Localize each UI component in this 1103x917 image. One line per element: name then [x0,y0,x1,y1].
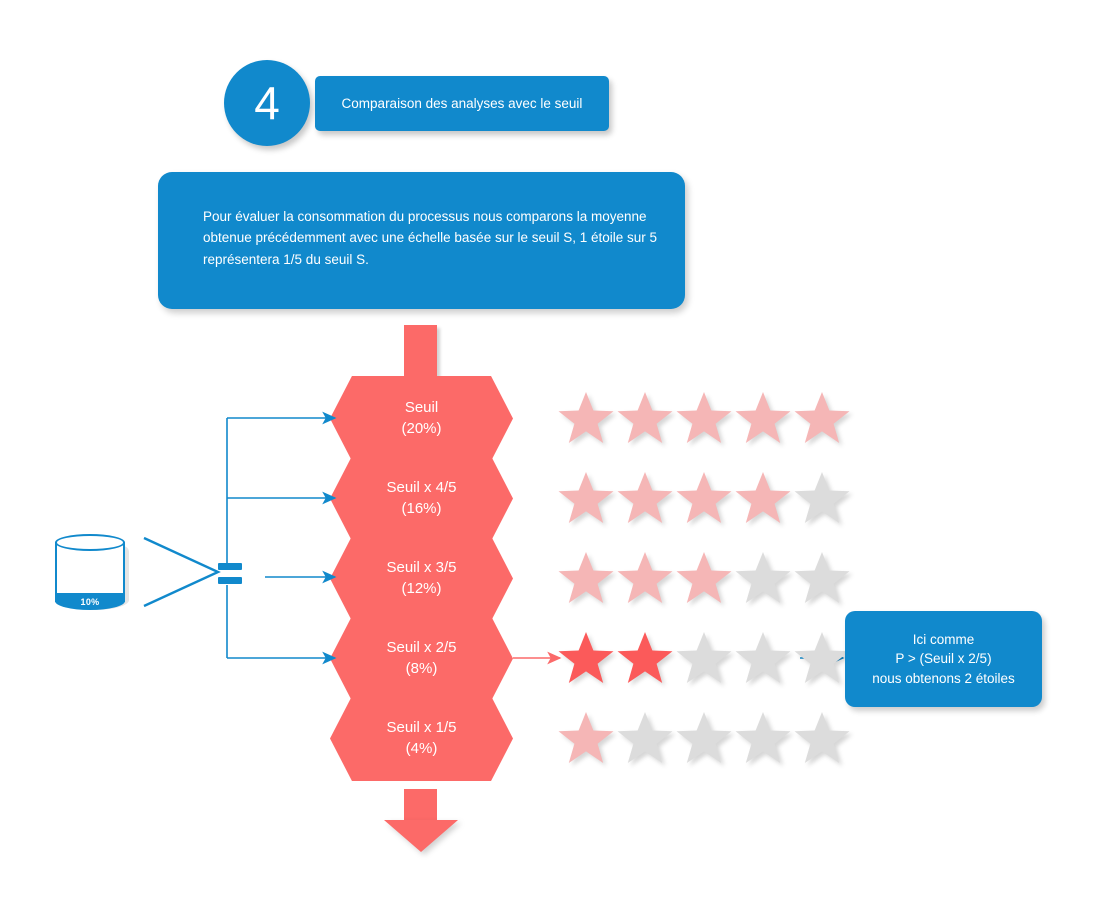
star-empty-icon [675,710,733,766]
star-empty-icon [793,710,851,766]
step-number-badge: 4 [224,60,310,146]
star-filled-icon [616,630,674,686]
step-number-label: 4 [254,80,280,126]
star-empty-icon [734,630,792,686]
star-row-1 [0,390,1103,448]
connector-lines [0,0,1103,917]
cylinder-top-ellipse [55,534,125,551]
star-filled-icon [616,550,674,606]
callout-line-2: P > (Seuil x 2/5) [895,651,991,666]
star-filled-icon [557,550,615,606]
description-box: Pour évaluer la consommation du processu… [158,172,685,309]
star-row-5 [0,710,1103,768]
step-title-box: Comparaison des analyses avec le seuil [315,76,609,131]
star-empty-icon [616,710,674,766]
callout-text: Ici comme P > (Seuil x 2/5) nous obtenon… [872,630,1015,689]
callout-line-3: nous obtenons 2 étoiles [872,671,1015,686]
step-title-label: Comparaison des analyses avec le seuil [342,95,583,113]
star-filled-icon [675,550,733,606]
star-empty-icon [793,630,851,686]
star-empty-icon [793,470,851,526]
star-filled-icon [616,470,674,526]
star-filled-icon [557,470,615,526]
star-empty-icon [675,630,733,686]
star-empty-icon [734,710,792,766]
diagram-canvas: 4 Comparaison des analyses avec le seuil… [0,0,1103,917]
star-filled-icon [675,390,733,446]
callout-line-1: Ici comme [913,632,975,647]
star-filled-icon [616,390,674,446]
star-row-3 [0,550,1103,608]
star-filled-icon [557,710,615,766]
star-filled-icon [734,390,792,446]
star-filled-icon [793,390,851,446]
star-filled-icon [734,470,792,526]
callout-box: Ici comme P > (Seuil x 2/5) nous obtenon… [845,611,1042,707]
star-filled-icon [675,470,733,526]
star-row-2 [0,470,1103,528]
funnel-bottom-arrow-head [384,820,458,852]
star-filled-icon [557,630,615,686]
description-text: Pour évaluer la consommation du processu… [203,206,659,270]
star-empty-icon [793,550,851,606]
star-filled-icon [557,390,615,446]
star-empty-icon [734,550,792,606]
